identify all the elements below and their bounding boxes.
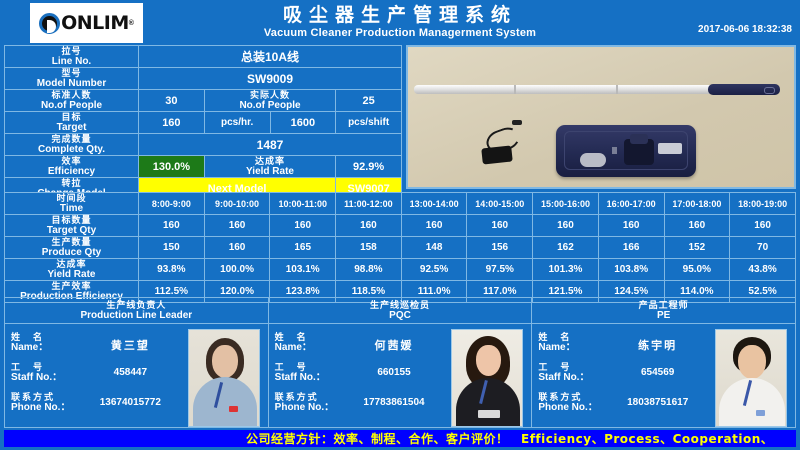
charger-plug bbox=[512, 120, 522, 125]
cell-produce-qty-2: 165 bbox=[270, 237, 336, 259]
value-model-number: SW9009 bbox=[139, 68, 402, 90]
hourly-production-table: 时间段 Time 8:00-9:00 9:00-10:00 10:00-11:0… bbox=[4, 192, 796, 303]
value-staff-no: 660155 bbox=[337, 362, 452, 378]
personnel-card-pe: 产品工程师 PE 姓 名 Name： 练宇明 工 号 St bbox=[532, 297, 796, 428]
value-yield-rate: 92.9% bbox=[336, 156, 402, 178]
label-model-number: 型号 Model Number bbox=[5, 68, 139, 90]
pole-joint-icon bbox=[616, 85, 618, 94]
cell-yield-rate-1: 100.0% bbox=[204, 259, 270, 281]
value-phone-no: 17783861504 bbox=[337, 392, 452, 408]
header-time-0: 8:00-9:00 bbox=[139, 193, 205, 215]
vacuum-base-unit bbox=[556, 125, 696, 177]
cell-yield-rate-4: 92.5% bbox=[401, 259, 467, 281]
header-time-8: 17:00-18:00 bbox=[664, 193, 730, 215]
label-yield-rate: 达成率 Yield Rate bbox=[204, 156, 336, 178]
charger-adapter bbox=[481, 145, 513, 164]
line-info-table: 拉号 Line No. 总装10A线 型号 Model Number SW900… bbox=[4, 45, 402, 200]
header-time-7: 16:00-17:00 bbox=[598, 193, 664, 215]
cell-target-qty-8: 160 bbox=[664, 215, 730, 237]
header-time-1: 9:00-10:00 bbox=[204, 193, 270, 215]
header-time-6: 15:00-16:00 bbox=[533, 193, 599, 215]
pole-joint-icon bbox=[514, 85, 516, 94]
field-phone-no: 联系方式 Phone No.： 13674015772 bbox=[11, 392, 188, 413]
label-target: 目标 Target bbox=[5, 112, 139, 134]
cell-produce-qty-7: 166 bbox=[598, 237, 664, 259]
cell-yield-rate-7: 103.8% bbox=[598, 259, 664, 281]
value-complete-qty: 1487 bbox=[139, 134, 402, 156]
field-phone-no: 联系方式 Phone No.： 17783861504 bbox=[275, 392, 452, 413]
cell-produce-qty-9: 70 bbox=[730, 237, 796, 259]
base-indicator-icon bbox=[612, 147, 617, 154]
field-name: 姓 名 Name： 练宇明 bbox=[538, 332, 715, 353]
label-act-people: 实际人数 No.of People bbox=[204, 90, 336, 112]
cell-yield-rate-8: 95.0% bbox=[664, 259, 730, 281]
value-act-people: 25 bbox=[336, 90, 402, 112]
top-section: 拉号 Line No. 总装10A线 型号 Model Number SW900… bbox=[0, 45, 800, 191]
table-row-target-qty: 目标数量 Target Qty 160 160 160 160 160 160 … bbox=[5, 215, 796, 237]
table-row-model-number: 型号 Model Number SW9009 bbox=[5, 68, 402, 90]
timestamp: 2017-06-06 18:32:38 bbox=[698, 24, 792, 35]
value-phone-no: 13674015772 bbox=[73, 392, 188, 408]
photo-pqc bbox=[451, 329, 523, 427]
value-target-shift: 1600 bbox=[270, 112, 336, 134]
table-row-produce-qty: 生产数量 Produce Qty 150 160 165 158 148 156… bbox=[5, 237, 796, 259]
value-name: 何茜媛 bbox=[337, 332, 452, 353]
value-name: 练宇明 bbox=[600, 332, 715, 353]
personnel-role-header: 产品工程师 PE bbox=[532, 298, 795, 324]
cell-target-qty-1: 160 bbox=[204, 215, 270, 237]
label-efficiency: 效率 Efficiency bbox=[5, 156, 139, 178]
vacuum-pole-tip bbox=[708, 84, 780, 95]
field-name: 姓 名 Name： 何茜媛 bbox=[275, 332, 452, 353]
field-staff-no: 工 号 Staff No.： 654569 bbox=[538, 362, 715, 383]
label-produce-qty: 生产数量 Produce Qty bbox=[5, 237, 139, 259]
field-staff-no: 工 号 Staff No.： 660155 bbox=[275, 362, 452, 383]
value-target-hour: 160 bbox=[139, 112, 205, 134]
header-time-9: 18:00-19:00 bbox=[730, 193, 796, 215]
header-time-3: 11:00-12:00 bbox=[336, 193, 402, 215]
cell-produce-qty-1: 160 bbox=[204, 237, 270, 259]
label-target-qty: 目标数量 Target Qty bbox=[5, 215, 139, 237]
cell-target-qty-0: 160 bbox=[139, 215, 205, 237]
page-title: 吸尘器生产管理系统 Vacuum Cleaner Production Mana… bbox=[0, 4, 800, 40]
personnel-role-header: 生产线负责人 Production Line Leader bbox=[5, 298, 268, 324]
cell-yield-rate-3: 98.8% bbox=[336, 259, 402, 281]
cell-yield-rate-5: 97.5% bbox=[467, 259, 533, 281]
personnel-card-pqc: 生产线巡检员 PQC 姓 名 Name： 何茜媛 工 号 bbox=[269, 297, 533, 428]
cell-yield-rate-9: 43.8% bbox=[730, 259, 796, 281]
announcement-text: 公司经营方针：效率、制程、合作、客户评价！ Efficiency、Process… bbox=[4, 430, 773, 447]
cell-yield-rate-2: 103.1% bbox=[270, 259, 336, 281]
cell-target-qty-9: 160 bbox=[730, 215, 796, 237]
field-staff-no: 工 号 Staff No.： 458447 bbox=[11, 362, 188, 383]
power-button-icon bbox=[580, 153, 606, 167]
label-time: 时间段 Time bbox=[5, 193, 139, 215]
field-phone-no: 联系方式 Phone No.： 18038751617 bbox=[538, 392, 715, 413]
value-std-people: 30 bbox=[139, 90, 205, 112]
personnel-role-header: 生产线巡检员 PQC bbox=[269, 298, 532, 324]
table-row-target: 目标 Target 160 pcs/hr. 1600 pcs/shift bbox=[5, 112, 402, 134]
value-staff-no: 458447 bbox=[73, 362, 188, 378]
label-hourly-yield-rate: 达成率 Yield Rate bbox=[5, 259, 139, 281]
product-photo bbox=[406, 45, 796, 189]
value-staff-no: 654569 bbox=[600, 362, 715, 378]
field-name: 姓 名 Name： 黄三望 bbox=[11, 332, 188, 353]
cell-target-qty-6: 160 bbox=[533, 215, 599, 237]
cell-produce-qty-4: 148 bbox=[401, 237, 467, 259]
table-row-time: 时间段 Time 8:00-9:00 9:00-10:00 10:00-11:0… bbox=[5, 193, 796, 215]
cell-target-qty-4: 160 bbox=[401, 215, 467, 237]
value-name: 黄三望 bbox=[73, 332, 188, 353]
production-dashboard: ONLIM ® 吸尘器生产管理系统 Vacuum Cleaner Product… bbox=[0, 0, 800, 450]
photo-pe bbox=[715, 329, 787, 427]
personnel-card-production-line-leader: 生产线负责人 Production Line Leader 姓 名 Name： … bbox=[4, 297, 269, 428]
cell-yield-rate-6: 101.3% bbox=[533, 259, 599, 281]
unit-target-hour: pcs/hr. bbox=[204, 112, 270, 134]
table-row-people: 标准人数 No.of People 30 实际人数 No.of People 2… bbox=[5, 90, 402, 112]
base-clip bbox=[624, 139, 654, 165]
value-phone-no: 18038751617 bbox=[600, 392, 715, 408]
cell-produce-qty-0: 150 bbox=[139, 237, 205, 259]
personnel-section: 生产线负责人 Production Line Leader 姓 名 Name： … bbox=[4, 297, 796, 428]
label-line-no: 拉号 Line No. bbox=[5, 46, 139, 68]
base-label-tag bbox=[658, 143, 682, 154]
vacuum-pole bbox=[414, 85, 752, 94]
header-time-2: 10:00-11:00 bbox=[270, 193, 336, 215]
label-complete-qty: 完成数量 Complete Qty. bbox=[5, 134, 139, 156]
table-row-complete-qty: 完成数量 Complete Qty. 1487 bbox=[5, 134, 402, 156]
cell-target-qty-5: 160 bbox=[467, 215, 533, 237]
value-efficiency: 130.0% bbox=[139, 156, 205, 178]
cell-target-qty-2: 160 bbox=[270, 215, 336, 237]
page-title-cn: 吸尘器生产管理系统 bbox=[0, 4, 800, 26]
header-time-4: 13:00-14:00 bbox=[401, 193, 467, 215]
cell-produce-qty-6: 162 bbox=[533, 237, 599, 259]
table-row-line-no: 拉号 Line No. 总装10A线 bbox=[5, 46, 402, 68]
cell-target-qty-7: 160 bbox=[598, 215, 664, 237]
announcement-marquee: 公司经营方针：效率、制程、合作、客户评价！ Efficiency、Process… bbox=[4, 430, 796, 447]
value-line-no: 总装10A线 bbox=[139, 46, 402, 68]
page-title-en: Vacuum Cleaner Production Managerment Sy… bbox=[0, 27, 800, 40]
cell-produce-qty-5: 156 bbox=[467, 237, 533, 259]
header-time-5: 14:00-15:00 bbox=[467, 193, 533, 215]
label-std-people: 标准人数 No.of People bbox=[5, 90, 139, 112]
photo-production-line-leader bbox=[188, 329, 260, 427]
cell-produce-qty-8: 152 bbox=[664, 237, 730, 259]
table-row-efficiency: 效率 Efficiency 130.0% 达成率 Yield Rate 92.9… bbox=[5, 156, 402, 178]
page-header: ONLIM ® 吸尘器生产管理系统 Vacuum Cleaner Product… bbox=[0, 0, 800, 45]
unit-target-shift: pcs/shift bbox=[336, 112, 402, 134]
cell-target-qty-3: 160 bbox=[336, 215, 402, 237]
cell-produce-qty-3: 158 bbox=[336, 237, 402, 259]
table-row-yield-rate: 达成率 Yield Rate 93.8% 100.0% 103.1% 98.8%… bbox=[5, 259, 796, 281]
cell-yield-rate-0: 93.8% bbox=[139, 259, 205, 281]
